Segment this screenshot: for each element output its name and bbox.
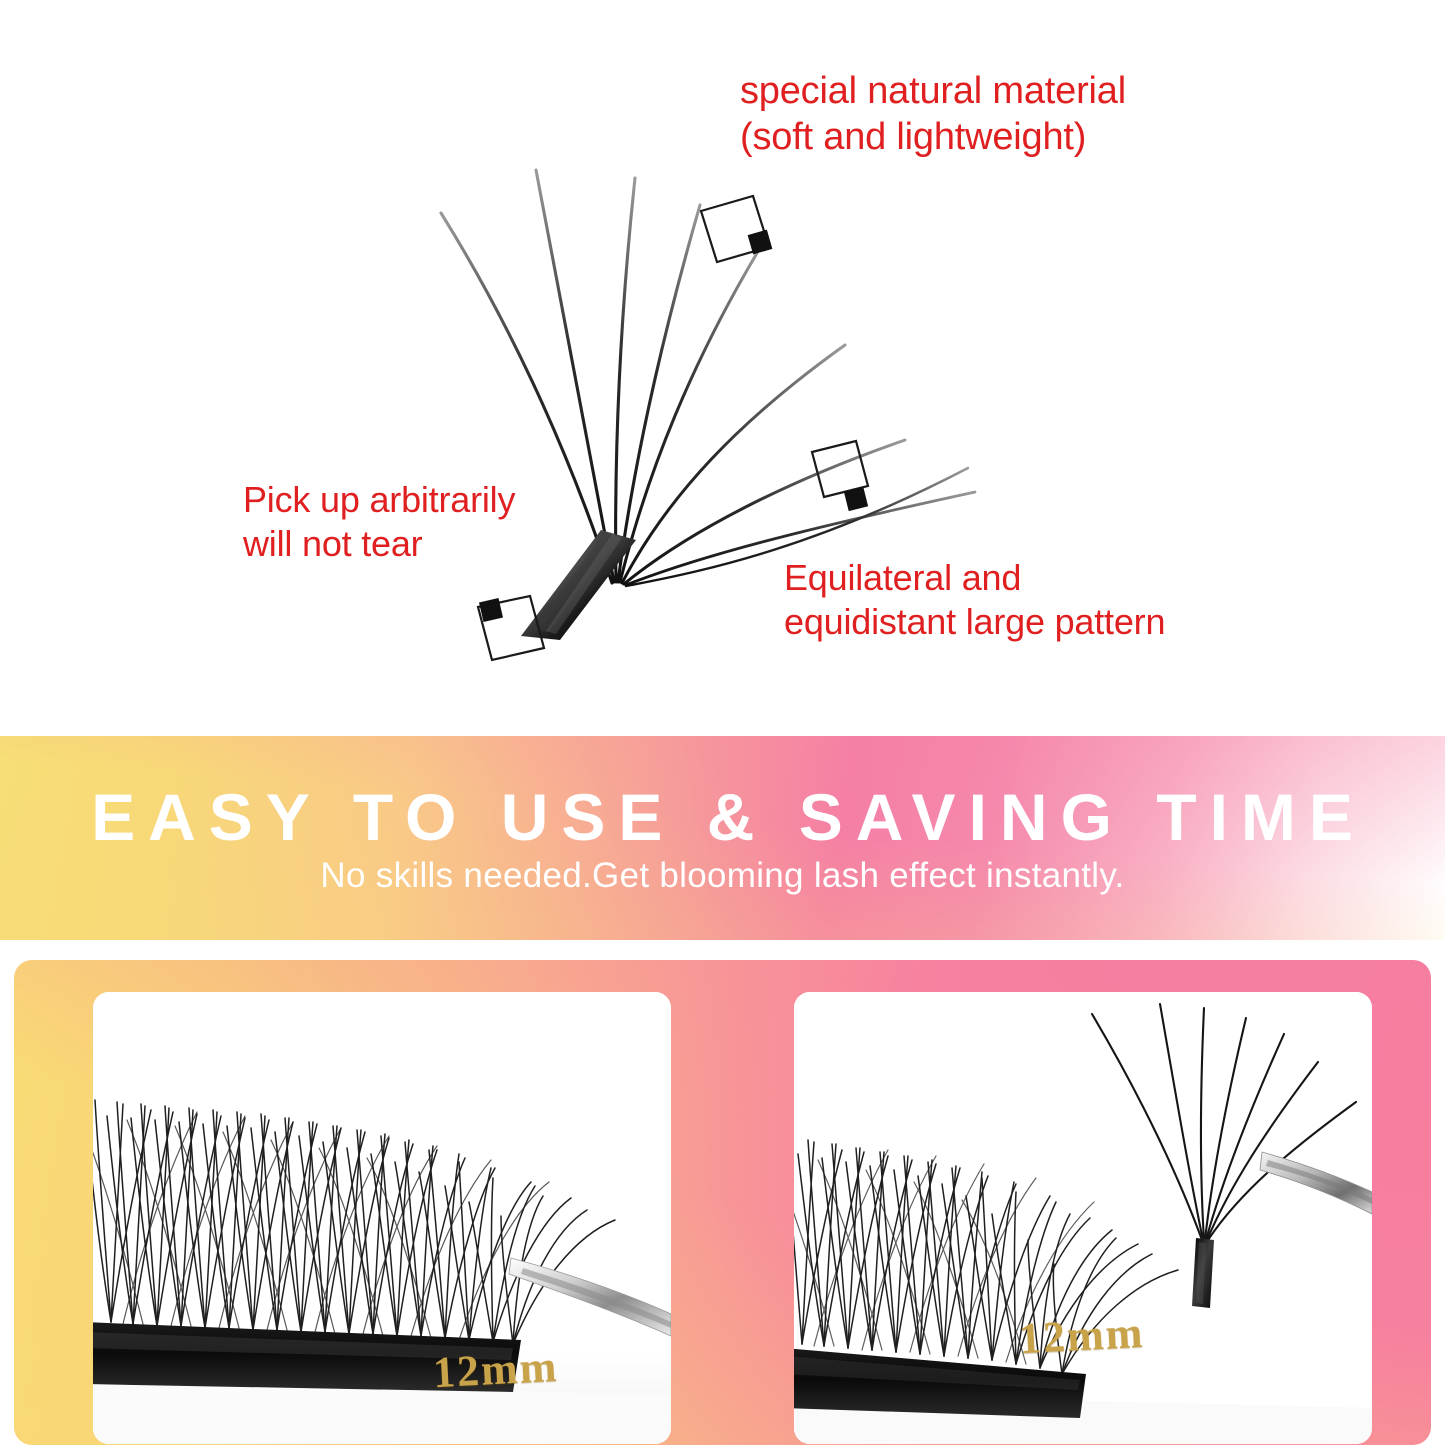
square-marker-upper-right <box>701 196 772 262</box>
square-marker-middle-right <box>812 441 868 511</box>
photo-card-left: 12mm <box>93 992 671 1444</box>
callout-material: special natural material (soft and light… <box>740 68 1210 161</box>
banner-title: EASY TO USE & SAVING TIME <box>91 784 1366 850</box>
callout-pattern: Equilateral and equidistant large patter… <box>784 556 1244 644</box>
photo-card-right: 12mm <box>794 992 1372 1444</box>
photo-single-fan-lifted <box>794 992 1372 1444</box>
photo-lash-tray-with-tweezer <box>93 992 671 1444</box>
product-feature-graphic: special natural material (soft and light… <box>0 0 1445 1445</box>
banner-subtitle: No skills needed.Get blooming lash effec… <box>320 858 1124 893</box>
diagram-section: special natural material (soft and light… <box>0 0 1445 736</box>
photo-band: 12mm <box>14 960 1431 1445</box>
callout-pickup: Pick up arbitrarily will not tear <box>243 478 573 566</box>
headline-banner: EASY TO USE & SAVING TIME No skills need… <box>0 736 1445 940</box>
